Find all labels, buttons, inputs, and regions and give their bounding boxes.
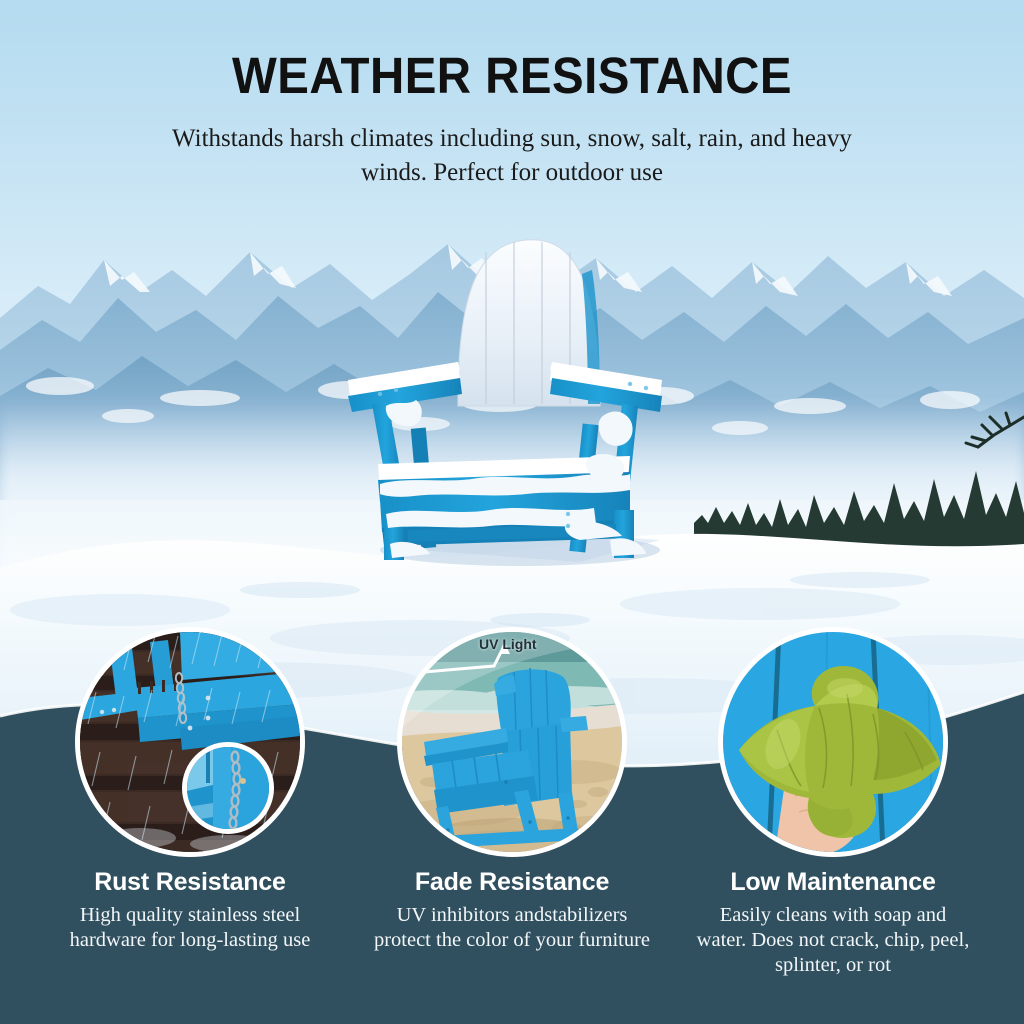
feature-title-fade-resistance: Fade Resistance xyxy=(362,868,662,897)
feature-title-rust-resistance: Rust Resistance xyxy=(40,868,340,897)
feature-desc-low-maintenance: Easily cleans with soap and water. Does … xyxy=(693,903,973,978)
feature-image-low-maintenance xyxy=(718,627,948,857)
infographic-canvas: UV Light xyxy=(0,0,1024,1024)
page-subtitle: Withstands harsh climates including sun,… xyxy=(162,122,862,190)
hero-snow-covered-chair xyxy=(330,228,690,573)
page-title: WEATHER RESISTANCE xyxy=(36,50,988,101)
uv-light-annotation: UV Light xyxy=(479,636,537,652)
rust-detail-magnifier xyxy=(182,742,274,834)
feature-image-fade-resistance xyxy=(397,627,627,857)
feature-title-low-maintenance: Low Maintenance xyxy=(683,868,983,897)
feature-desc-fade-resistance: UV inhibitors andstabilizers protect the… xyxy=(372,903,652,953)
feature-image-rust-resistance xyxy=(75,627,305,857)
feature-desc-rust-resistance: High quality stainless steel hardware fo… xyxy=(50,903,330,953)
